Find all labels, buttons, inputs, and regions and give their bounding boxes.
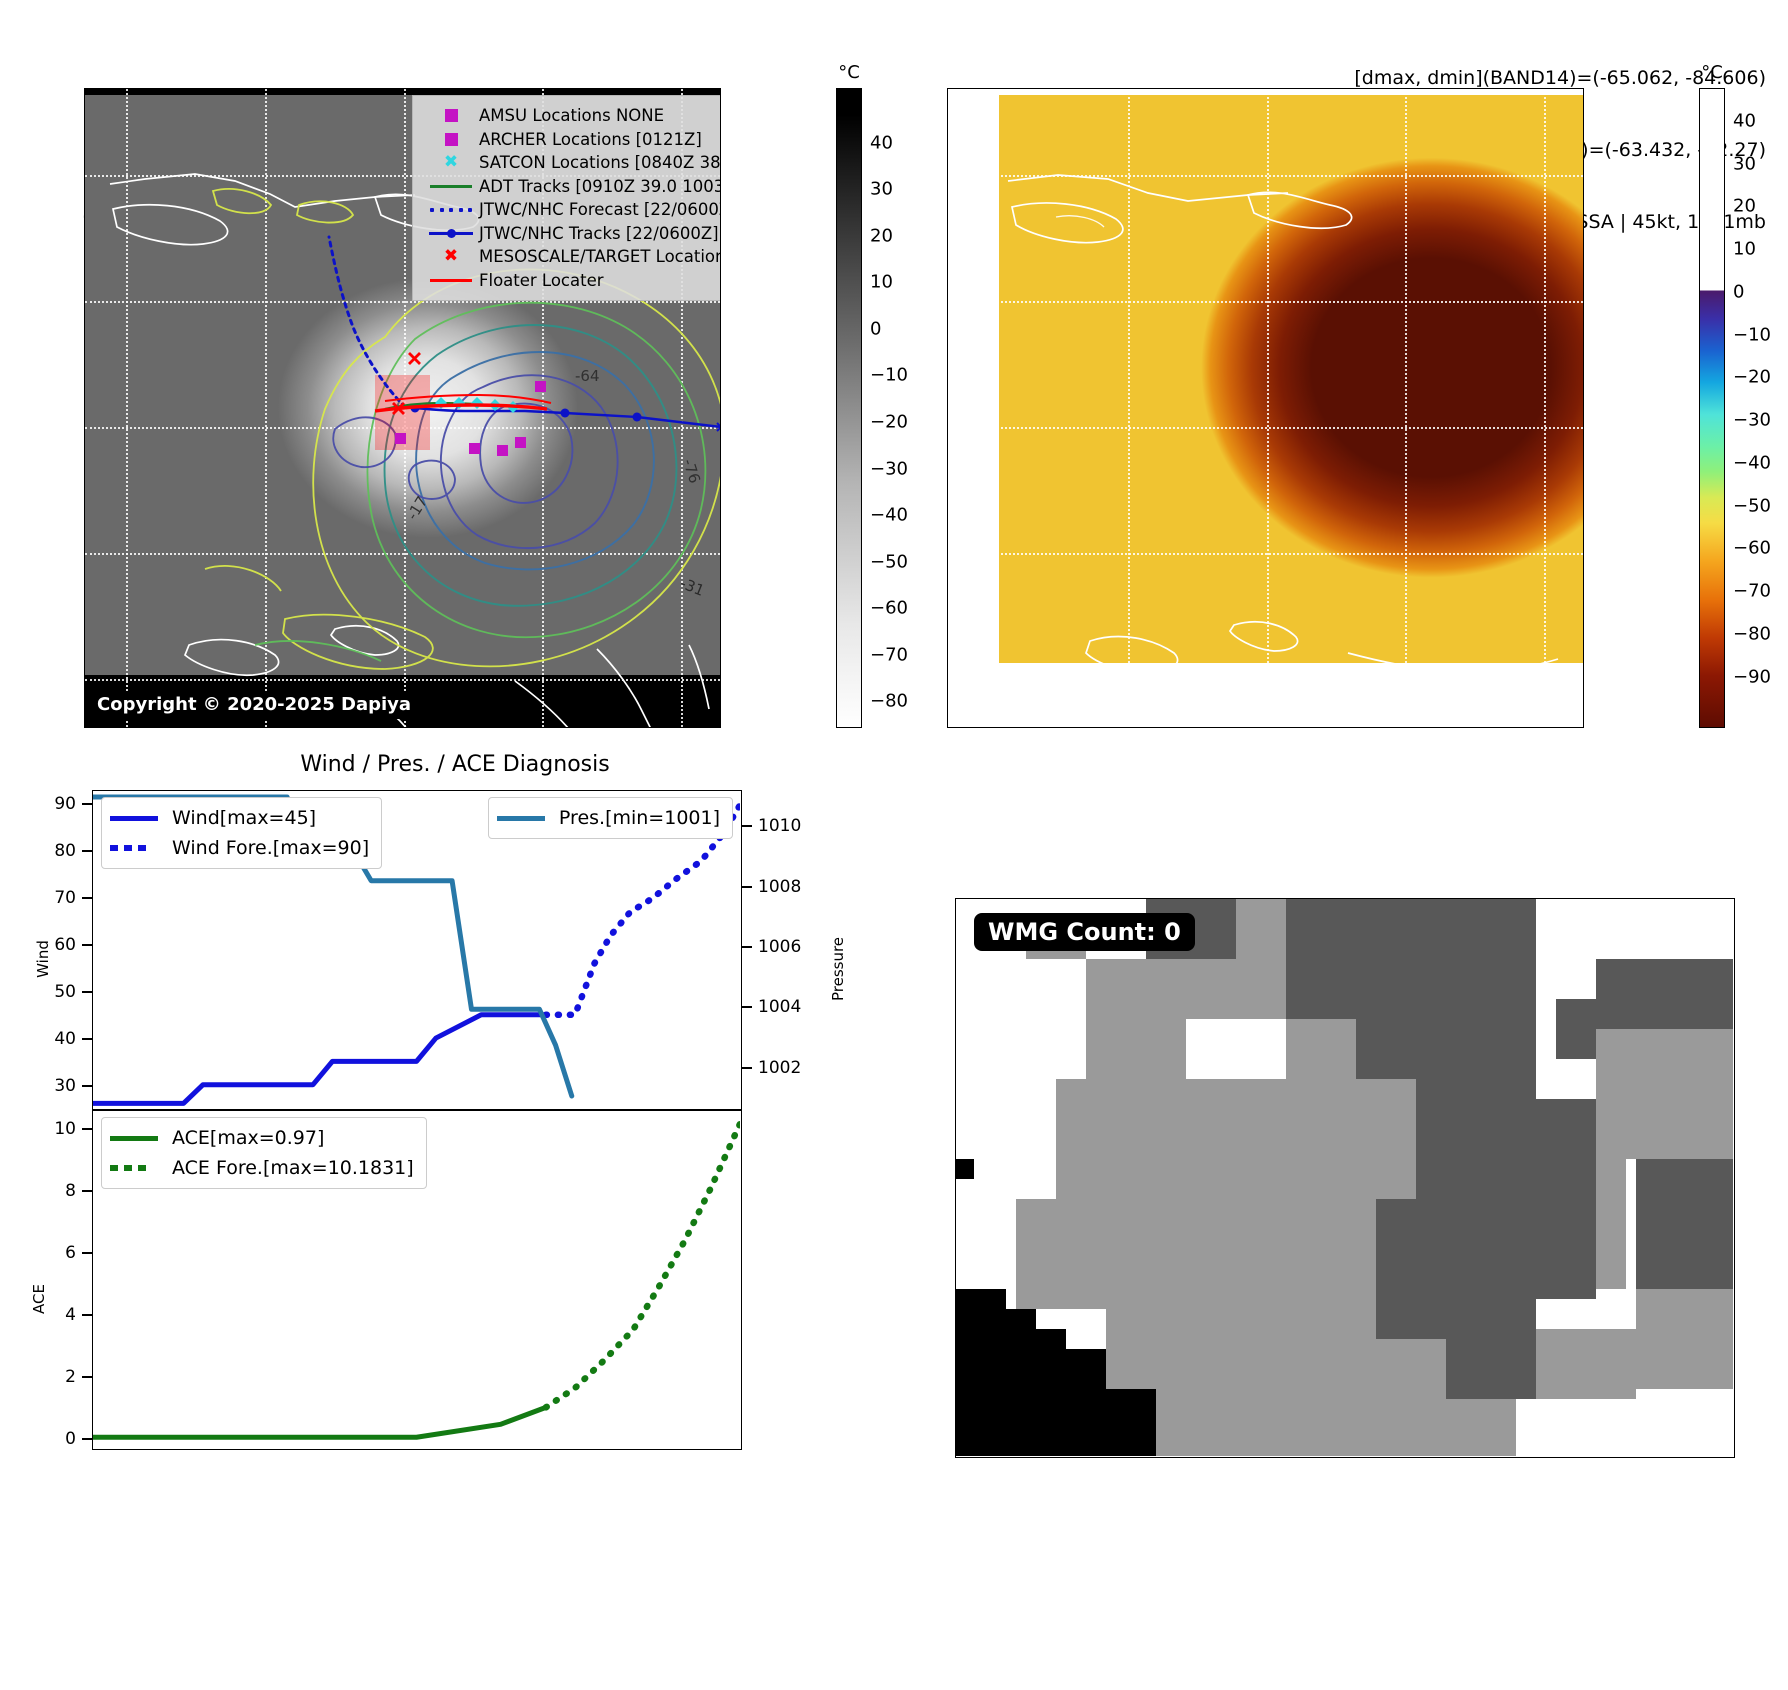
pressure-tick-label: 1006: [758, 937, 801, 957]
legend-item-mesoscale-target[interactable]: ✖ MESOSCALE/TARGET Location: [423, 245, 721, 269]
cb-tick: −50: [870, 551, 908, 572]
legend-item-wind[interactable]: Wind[max=45]: [110, 803, 369, 833]
cb-tick: −30: [870, 458, 908, 479]
cb-tick: 0: [870, 318, 881, 339]
legend-item-ace-forecast[interactable]: ACE Fore.[max=10.1831]: [110, 1153, 414, 1183]
legend-label: JTWC/NHC Tracks [22/0600Z]: [479, 222, 719, 246]
pressure-legend[interactable]: Pres.[min=1001]: [488, 797, 733, 839]
ace-tick-mark: [82, 1190, 92, 1192]
blue-line-dot-icon: [423, 227, 479, 239]
ace-tick-mark: [82, 1314, 92, 1316]
cb-tick: −30: [1733, 410, 1771, 431]
pressure-tick-label: 1002: [758, 1058, 801, 1078]
cyan-x-icon: ✖: [423, 154, 479, 171]
cb-tick: 40: [870, 132, 893, 153]
ace-tick-label: 6: [65, 1243, 76, 1263]
green-solid-line-icon: [110, 1136, 172, 1141]
blue-dotted-line-icon: [423, 208, 479, 212]
legend-label: Pres.[min=1001]: [559, 803, 720, 833]
ace-tick-mark: [82, 1376, 92, 1378]
blue-solid-line-icon: [110, 816, 172, 821]
legend-label: Floater Locater: [479, 269, 604, 293]
pressure-tick-label: 1010: [758, 816, 801, 836]
colorbar-left-unit: °C: [838, 62, 860, 83]
red-x-icon: ✖: [423, 248, 479, 265]
gridline-lat-18: [948, 175, 1583, 177]
pressure-tick-label: 1008: [758, 877, 801, 897]
gridline-lat-12: [948, 553, 1583, 555]
legend-item-archer[interactable]: ARCHER Locations [0121Z]: [423, 128, 721, 152]
cb-tick: −10: [1733, 324, 1771, 345]
wind-tick-mark: [82, 897, 92, 899]
gridline-lon-76: [1128, 89, 1130, 727]
gridline-lon-72: [1405, 89, 1407, 727]
legend-item-pressure[interactable]: Pres.[min=1001]: [497, 803, 720, 833]
gridline-lon-70: [1544, 89, 1546, 727]
magenta-square-icon: [423, 109, 479, 122]
svg-text:-31: -31: [678, 574, 707, 600]
wmg-grid: [956, 899, 1733, 1456]
ace-tick-mark: [82, 1128, 92, 1130]
wind-axis-label: Wind: [34, 940, 52, 978]
pressure-axis-label: Pressure: [829, 937, 847, 1001]
magenta-square-icon: [423, 133, 479, 146]
wmg-panel[interactable]: WMG Count: 0: [955, 898, 1735, 1458]
colorbar-right: 40 30 20 10 0 −10 −20 −30 −40 −50 −60 −7…: [1699, 88, 1725, 728]
wind-tick-mark: [82, 850, 92, 852]
legend-item-amsu[interactable]: AMSU Locations NONE: [423, 104, 721, 128]
ace-tick-label: 10: [54, 1119, 76, 1139]
gridline-lat-16: [948, 301, 1583, 303]
cb-tick: 20: [870, 225, 893, 246]
awv-satellite-map[interactable]: 18°N 16°N 14°N 12°N 10°N 78°W 76°W 74°W …: [947, 88, 1584, 728]
ace-legend[interactable]: ACE[max=0.97] ACE Fore.[max=10.1831]: [101, 1117, 427, 1189]
wind-tick-label: 30: [54, 1076, 76, 1096]
ir-satellite-map[interactable]: -64 -76 -17 -31: [84, 88, 721, 728]
pressure-tick-mark: [742, 886, 752, 888]
green-line-icon: [423, 185, 479, 189]
wind-tick-mark: [82, 803, 92, 805]
legend-item-wind-forecast[interactable]: Wind Fore.[max=90]: [110, 833, 369, 863]
cb-tick: −50: [1733, 495, 1771, 516]
cb-tick: 0: [1733, 281, 1744, 302]
legend-item-satcon[interactable]: ✖ SATCON Locations [0840Z 38 1002]: [423, 151, 721, 175]
svg-text:-76: -76: [679, 457, 704, 486]
pressure-tick-label: 1004: [758, 997, 801, 1017]
wind-tick-label: 80: [54, 841, 76, 861]
wind-tick-label: 50: [54, 982, 76, 1002]
cb-tick: 30: [870, 179, 893, 200]
cb-tick: −10: [870, 365, 908, 386]
ace-tick-label: 4: [65, 1305, 76, 1325]
gridline-lon-74: [1267, 89, 1269, 727]
cb-tick: −80: [1733, 623, 1771, 644]
ace-tick-label: 2: [65, 1367, 76, 1387]
cb-tick: −40: [1733, 452, 1771, 473]
legend-label: ARCHER Locations [0121Z]: [479, 128, 702, 152]
svg-text:-64: -64: [575, 367, 600, 385]
cb-tick: −70: [1733, 581, 1771, 602]
legend-item-jtwc-tracks[interactable]: JTWC/NHC Tracks [22/0600Z]: [423, 222, 721, 246]
wind-tick-label: 90: [54, 794, 76, 814]
cb-tick: −60: [870, 598, 908, 619]
wind-tick-mark: [82, 991, 92, 993]
cb-tick: 10: [870, 272, 893, 293]
cb-tick: −20: [870, 412, 908, 433]
cb-tick: −40: [870, 505, 908, 526]
legend-label: AMSU Locations NONE: [479, 104, 664, 128]
legend-label: ACE[max=0.97]: [172, 1123, 324, 1153]
colorbar-left: 40 30 20 10 0 −10 −20 −30 −40 −50 −60 −7…: [836, 88, 862, 728]
legend-item-adt-tracks[interactable]: ADT Tracks [0910Z 39.0 1003.0]: [423, 175, 721, 199]
cb-tick: 30: [1733, 153, 1756, 174]
legend-label: Wind Fore.[max=90]: [172, 833, 369, 863]
legend-label: ACE Fore.[max=10.1831]: [172, 1153, 414, 1183]
svg-text:-17: -17: [403, 493, 431, 523]
pressure-tick-mark: [742, 946, 752, 948]
cb-tick: 20: [1733, 196, 1756, 217]
wind-tick-label: 40: [54, 1029, 76, 1049]
wind-tick-mark: [82, 944, 92, 946]
red-line-icon: [423, 279, 479, 283]
cb-tick: −70: [870, 644, 908, 665]
legend-item-jtwc-forecast[interactable]: JTWC/NHC Forecast [22/0600Z]: [423, 198, 721, 222]
wind-tick-label: 60: [54, 935, 76, 955]
cb-tick: 40: [1733, 110, 1756, 131]
legend-item-ace[interactable]: ACE[max=0.97]: [110, 1123, 414, 1153]
green-dotted-line-icon: [110, 1165, 172, 1171]
wind-tick-mark: [82, 1085, 92, 1087]
pressure-tick-mark: [742, 1006, 752, 1008]
legend-label: Wind[max=45]: [172, 803, 316, 833]
ace-tick-label: 8: [65, 1181, 76, 1201]
gridline-lat-14: [948, 427, 1583, 429]
teal-solid-line-icon: [497, 816, 559, 821]
pressure-tick-mark: [742, 825, 752, 827]
ace-tick-mark: [82, 1252, 92, 1254]
map-legend[interactable]: AMSU Locations NONE ARCHER Locations [01…: [412, 95, 721, 301]
legend-label: ADT Tracks [0910Z 39.0 1003.0]: [479, 175, 721, 199]
wind-tick-label: 70: [54, 888, 76, 908]
ace-axis-label: ACE: [30, 1284, 48, 1314]
wind-legend[interactable]: Wind[max=45] Wind Fore.[max=90]: [101, 797, 382, 869]
wmg-count-badge: WMG Count: 0: [974, 913, 1195, 951]
pressure-tick-mark: [742, 1067, 752, 1069]
legend-item-floater-locater[interactable]: Floater Locater: [423, 269, 721, 293]
ace-tick-mark: [82, 1438, 92, 1440]
legend-label: SATCON Locations [0840Z 38 1002]: [479, 151, 721, 175]
copyright-notice: Copyright © 2020-2025 Dapiya: [91, 691, 421, 719]
legend-label: JTWC/NHC Forecast [22/0600Z]: [479, 198, 721, 222]
ace-tick-label: 0: [65, 1429, 76, 1449]
wind-tick-mark: [82, 1038, 92, 1040]
legend-label: MESOSCALE/TARGET Location: [479, 245, 721, 269]
cb-tick: −90: [1733, 666, 1771, 687]
chart-title: Wind / Pres. / ACE Diagnosis: [300, 752, 609, 777]
cb-tick: −80: [870, 691, 908, 712]
cb-tick: 10: [1733, 239, 1756, 260]
gridline-lon-78: [989, 89, 991, 727]
blue-dotted-line-icon: [110, 845, 172, 851]
cb-tick: −20: [1733, 367, 1771, 388]
colorbar-right-unit: °C: [1701, 62, 1723, 83]
cb-tick: −60: [1733, 538, 1771, 559]
